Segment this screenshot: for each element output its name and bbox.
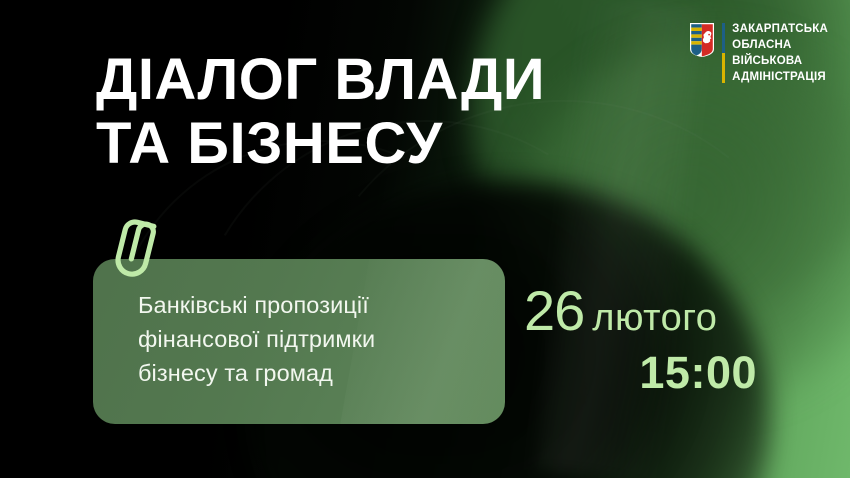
organization-logo: ЗАКАРПАТСЬКА ОБЛАСНА ВІЙСЬКОВА АДМІНІСТР… [689,22,828,85]
topic-line-2: фінансової підтримки [138,322,505,356]
headline-line-1: ДІАЛОГ ВЛАДИ [96,48,545,112]
logo-text-block: ЗАКАРПАТСЬКА ОБЛАСНА ВІЙСЬКОВА АДМІНІСТР… [732,22,828,85]
event-time: 15:00 [524,349,764,397]
event-date-day: 26 [524,283,584,339]
logo-line-1: ЗАКАРПАТСЬКА [732,22,828,37]
page-title: ДІАЛОГ ВЛАДИ ТА БІЗНЕСУ [96,48,545,176]
paperclip-icon [108,214,174,284]
event-date: 26 лютого [524,283,764,339]
topic-line-3: бізнесу та громад [138,356,505,390]
zakarpattia-coat-of-arms-icon [689,22,715,58]
event-datetime: 26 лютого 15:00 [524,283,764,397]
topic-line-1: Банківські пропозиції [138,288,505,322]
logo-line-4: АДМІНІСТРАЦІЯ [732,70,828,85]
logo-line-3: ВІЙСЬКОВА [732,54,828,69]
logo-divider [722,23,725,83]
event-date-month: лютого [592,298,717,338]
headline-line-2: ТА БІЗНЕСУ [96,112,545,176]
event-poster: ЗАКАРПАТСЬКА ОБЛАСНА ВІЙСЬКОВА АДМІНІСТР… [0,0,850,478]
logo-line-2: ОБЛАСНА [732,38,828,53]
